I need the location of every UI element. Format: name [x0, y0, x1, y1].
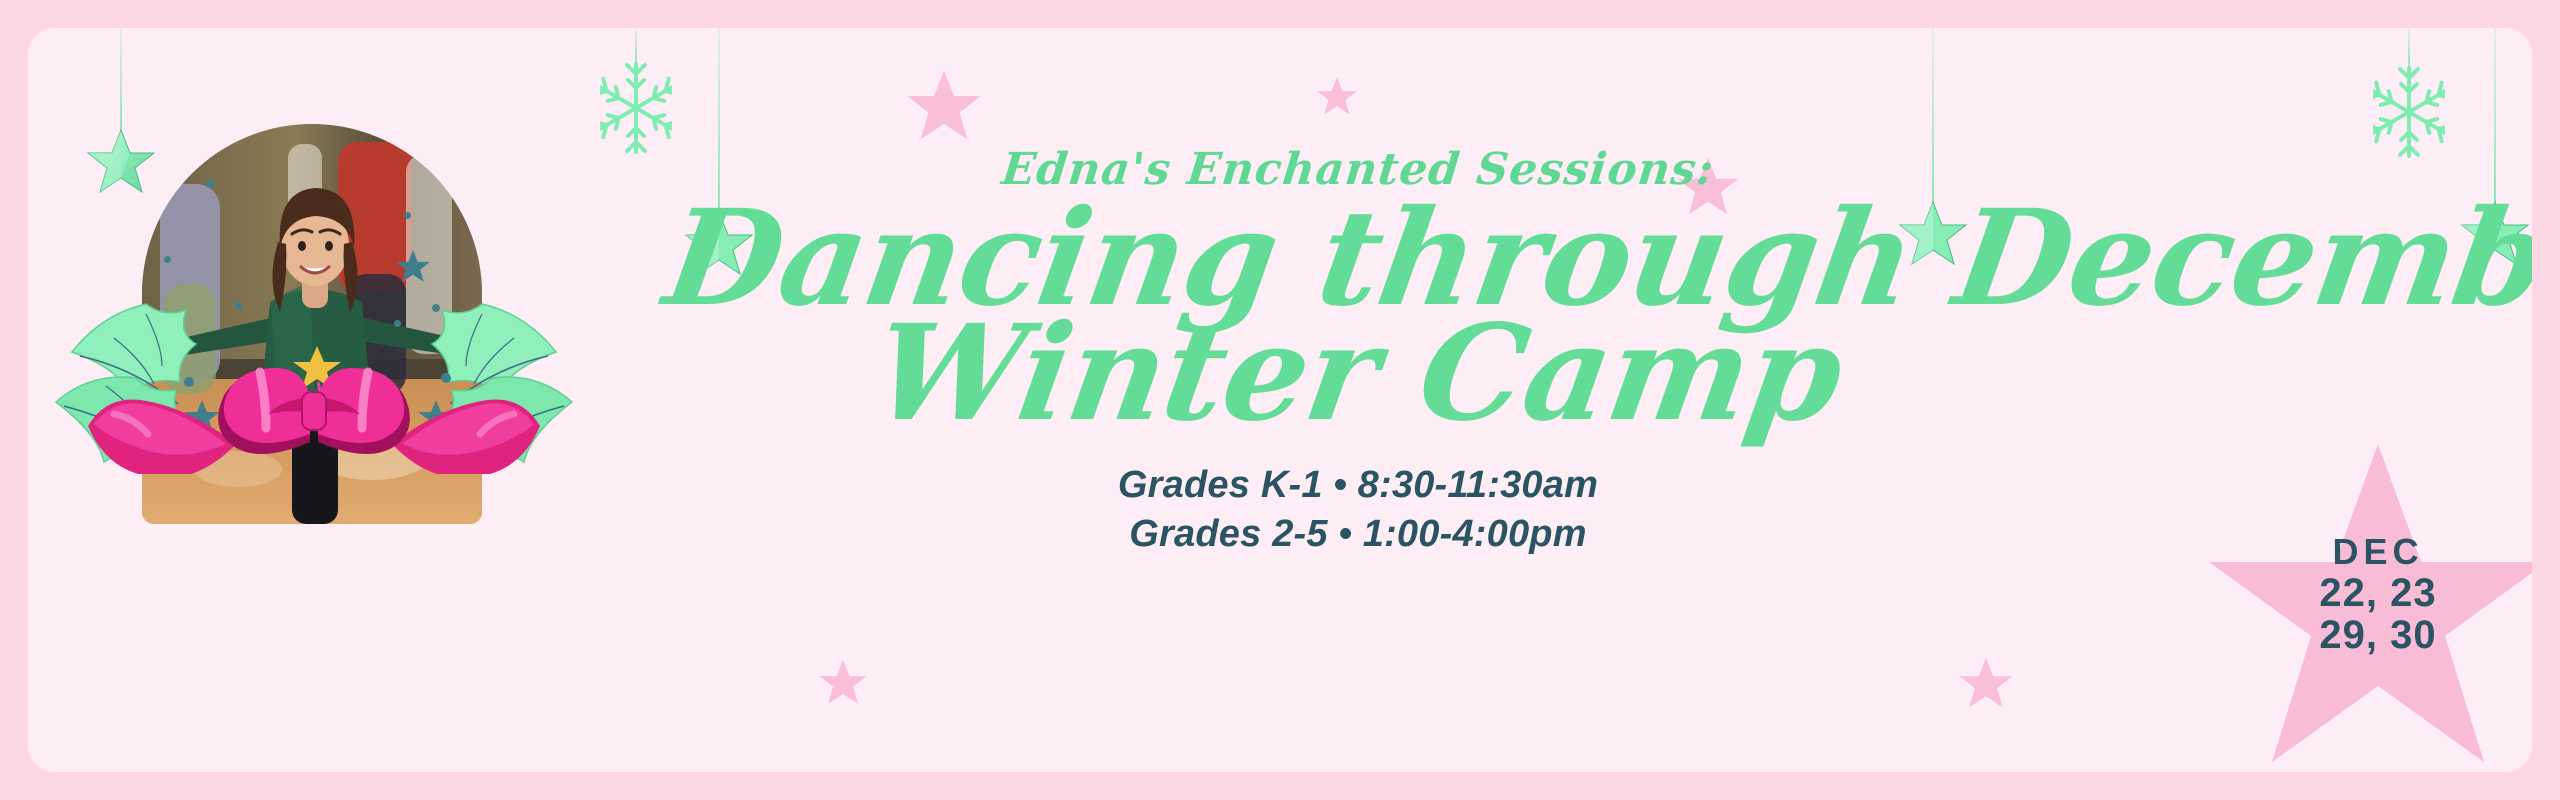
confetti-dot — [404, 212, 411, 219]
confetti-dot — [184, 377, 194, 387]
holly-bow-wreath — [54, 274, 574, 474]
confetti-dot — [206, 180, 214, 188]
page-title-line-2: Winter Camp — [658, 313, 2057, 434]
schedule-line-1: Grades K-1 • 8:30-11:30am — [668, 461, 2048, 510]
pink-star-icon — [1958, 656, 2014, 711]
confetti-dot — [164, 256, 171, 263]
photo-wreath-group — [114, 124, 514, 544]
winter-camp-banner: Edna's Enchanted Sessions: Dancing throu… — [0, 0, 2560, 800]
date-badge: DEC 22, 23 29, 30 — [2208, 438, 2532, 768]
schedule-line-2: Grades 2-5 • 1:00-4:00pm — [668, 510, 2048, 559]
banner-panel: Edna's Enchanted Sessions: Dancing throu… — [28, 28, 2532, 772]
ribbon-bow — [218, 368, 410, 454]
banner-text-block: Edna's Enchanted Sessions: Dancing throu… — [668, 148, 2048, 558]
date-badge-days-1: 22, 23 — [2208, 572, 2532, 614]
pink-star-icon — [1316, 76, 1358, 117]
schedule-list: Grades K-1 • 8:30-11:30am Grades 2-5 • 1… — [668, 461, 2048, 558]
snowflake-icon — [600, 60, 672, 161]
date-badge-text: DEC 22, 23 29, 30 — [2208, 534, 2532, 656]
confetti-dot — [441, 373, 451, 383]
pink-star-icon — [818, 658, 868, 707]
date-badge-month: DEC — [2208, 534, 2532, 570]
ribbon-tail-right — [392, 400, 540, 474]
snowflake-icon — [2373, 64, 2445, 165]
pink-star-icon — [905, 68, 983, 144]
date-badge-days-2: 29, 30 — [2208, 614, 2532, 656]
ornament-string — [120, 28, 122, 138]
ribbon-tail-left — [88, 400, 236, 474]
